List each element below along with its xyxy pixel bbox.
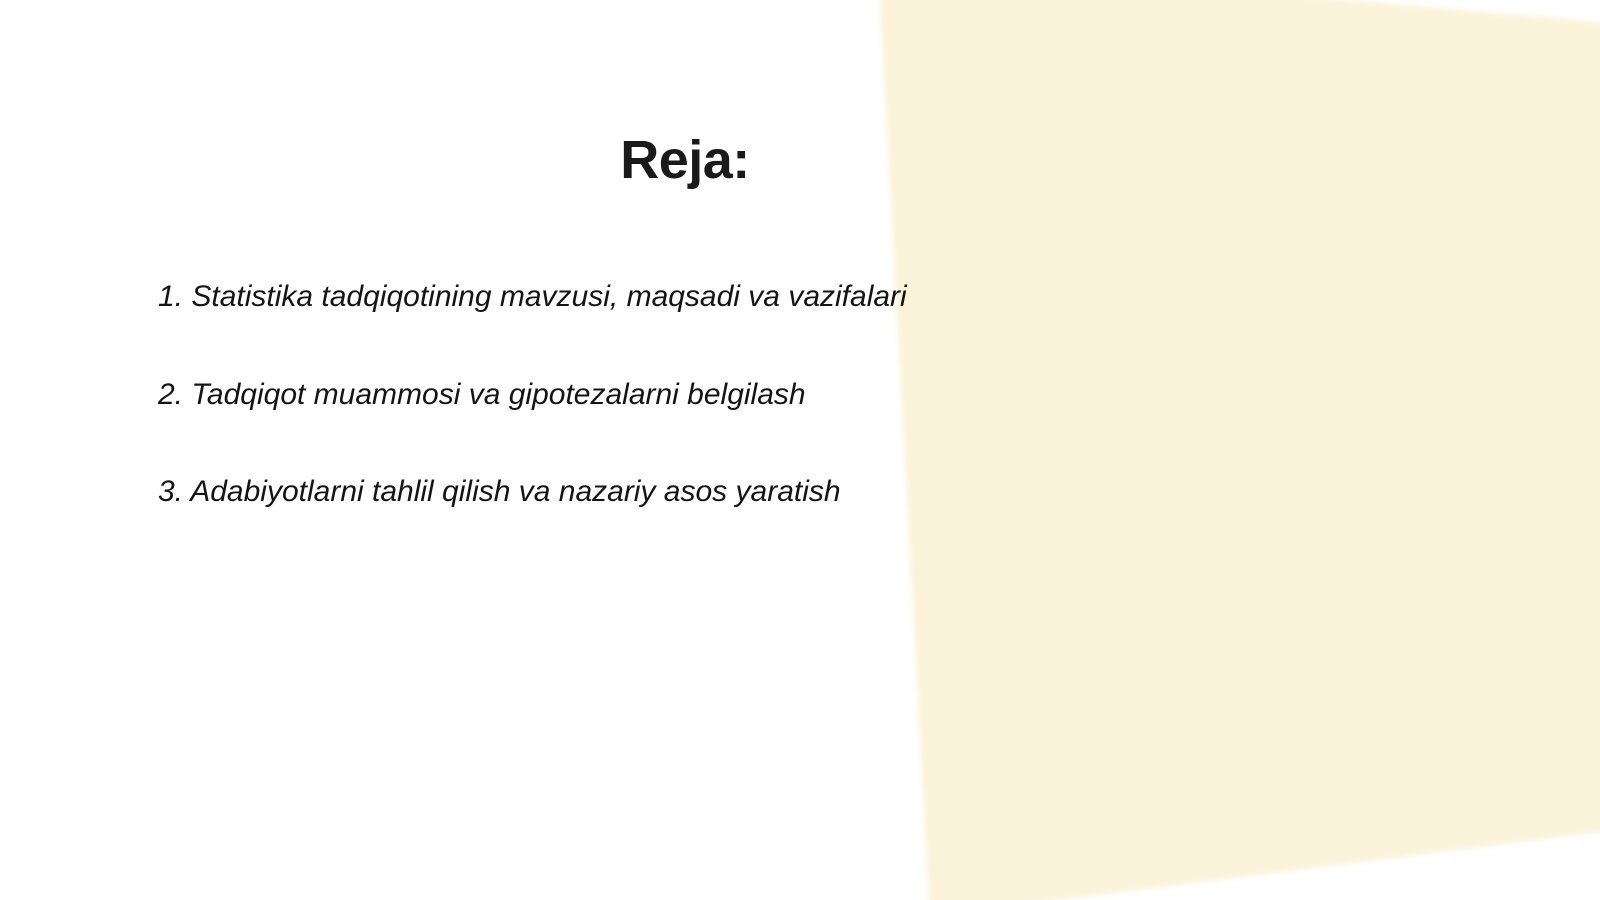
- presentation-slide: Reja: 1. Statistika tadqiqotining mavzus…: [0, 0, 1600, 900]
- page-title: Reja:: [0, 131, 1370, 190]
- slide-content: Reja: 1. Statistika tadqiqotining mavzus…: [0, 0, 1600, 900]
- agenda-list: 1. Statistika tadqiqotining mavzusi, maq…: [158, 278, 1358, 511]
- list-item: 1. Statistika tadqiqotining mavzusi, maq…: [158, 278, 1358, 316]
- list-item: 3. Adabiyotlarni tahlil qilish va nazari…: [158, 473, 1358, 511]
- list-item: 2. Tadqiqot muammosi va gipotezalarni be…: [158, 376, 1358, 414]
